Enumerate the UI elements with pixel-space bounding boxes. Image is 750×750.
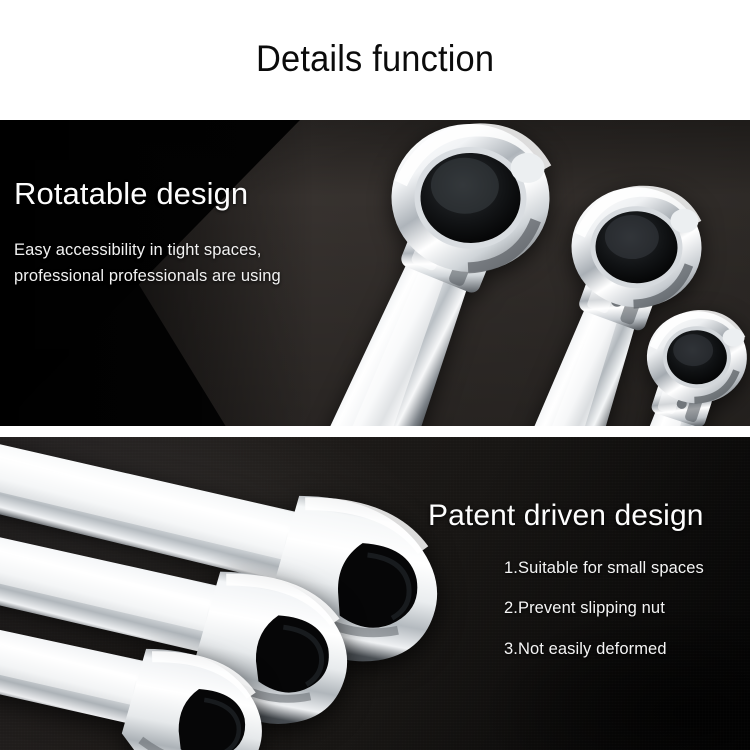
patent-feature-item-2: 2.Prevent slipping nut bbox=[504, 600, 750, 617]
open-end-wrench-17mm bbox=[0, 532, 335, 750]
panel-patent-driven-design: Patent driven design 1.Suitable for smal… bbox=[0, 437, 750, 750]
rotatable-body-text: Easy accessibility in tight spaces, prof… bbox=[14, 237, 282, 290]
patent-feature-item-1: 1.Suitable for small spaces bbox=[504, 560, 750, 577]
patent-feature-item-3: 3.Not easily deformed bbox=[504, 641, 750, 658]
page-title: Details function bbox=[256, 40, 494, 77]
panel-divider bbox=[0, 426, 750, 437]
header-banner: Details function bbox=[0, 0, 750, 120]
patent-feature-list: 1.Suitable for small spaces 2.Prevent sl… bbox=[428, 560, 750, 658]
patent-heading: Patent driven design bbox=[428, 500, 750, 532]
product-detail-image: Details function bbox=[0, 0, 750, 750]
ratcheting-wrench-small bbox=[560, 305, 750, 426]
patent-text-block: Patent driven design 1.Suitable for smal… bbox=[428, 500, 750, 657]
rotatable-text-block: Rotatable design Easy accessibility in t… bbox=[14, 178, 314, 290]
panel-rotatable-design: Rotatable design Easy accessibility in t… bbox=[0, 120, 750, 426]
rotatable-heading: Rotatable design bbox=[14, 178, 314, 211]
